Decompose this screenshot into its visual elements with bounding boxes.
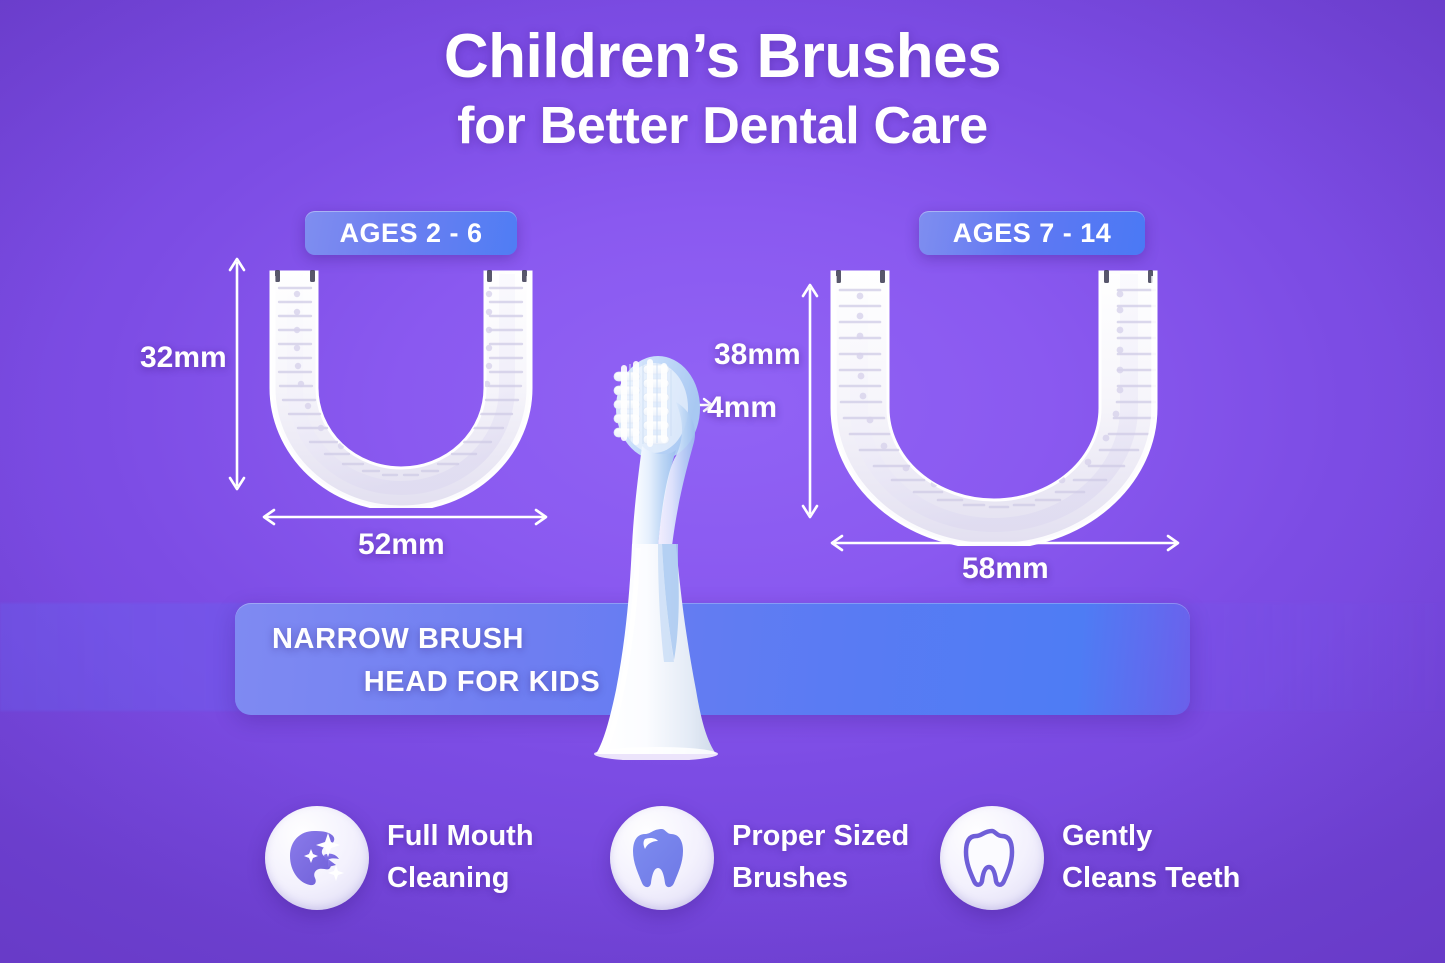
feature-label-2: Gently Cleans Teeth <box>1062 816 1240 900</box>
dimension-label-58mm: 58mm <box>962 552 1049 586</box>
feature-label-0-line1: Full Mouth <box>387 816 534 858</box>
feature-label-1: Proper Sized Brushes <box>732 816 909 900</box>
dimension-line-height-right <box>795 278 825 524</box>
age-badge-7-14: AGES 7 - 14 <box>919 211 1145 255</box>
feature-label-2-line2: Cleans Teeth <box>1062 858 1240 900</box>
title-line-1: Children’s Brushes <box>0 22 1445 93</box>
u-brush-head-small <box>253 258 548 508</box>
feature-label-1-line1: Proper Sized <box>732 816 909 858</box>
feature-proper-sized-brushes: Proper Sized Brushes <box>610 806 909 910</box>
dimension-label-52mm: 52mm <box>358 528 445 562</box>
tooth-outline-icon <box>940 806 1044 910</box>
u-brush-head-large <box>812 258 1177 546</box>
dimension-label-32mm: 32mm <box>140 341 227 375</box>
feature-row: Full Mouth Cleaning Proper Sized Brushes <box>265 806 1275 916</box>
dimension-label-38mm: 38mm <box>714 338 801 372</box>
dimension-label-4mm: 4mm <box>707 391 777 425</box>
feature-label-2-line1: Gently <box>1062 816 1240 858</box>
feature-full-mouth-cleaning: Full Mouth Cleaning <box>265 806 534 910</box>
feature-label-0: Full Mouth Cleaning <box>387 816 534 900</box>
tooth-filled-icon <box>610 806 714 910</box>
feature-gently-cleans-teeth: Gently Cleans Teeth <box>940 806 1240 910</box>
age-badge-2-6: AGES 2 - 6 <box>305 211 517 255</box>
page-title: Children’s Brushes for Better Dental Car… <box>0 22 1445 157</box>
title-line-2: for Better Dental Care <box>0 95 1445 157</box>
feature-label-1-line2: Brushes <box>732 858 909 900</box>
toothbrush-head-icon <box>588 338 724 760</box>
mouth-sparkle-icon <box>265 806 369 910</box>
feature-label-0-line2: Cleaning <box>387 858 534 900</box>
